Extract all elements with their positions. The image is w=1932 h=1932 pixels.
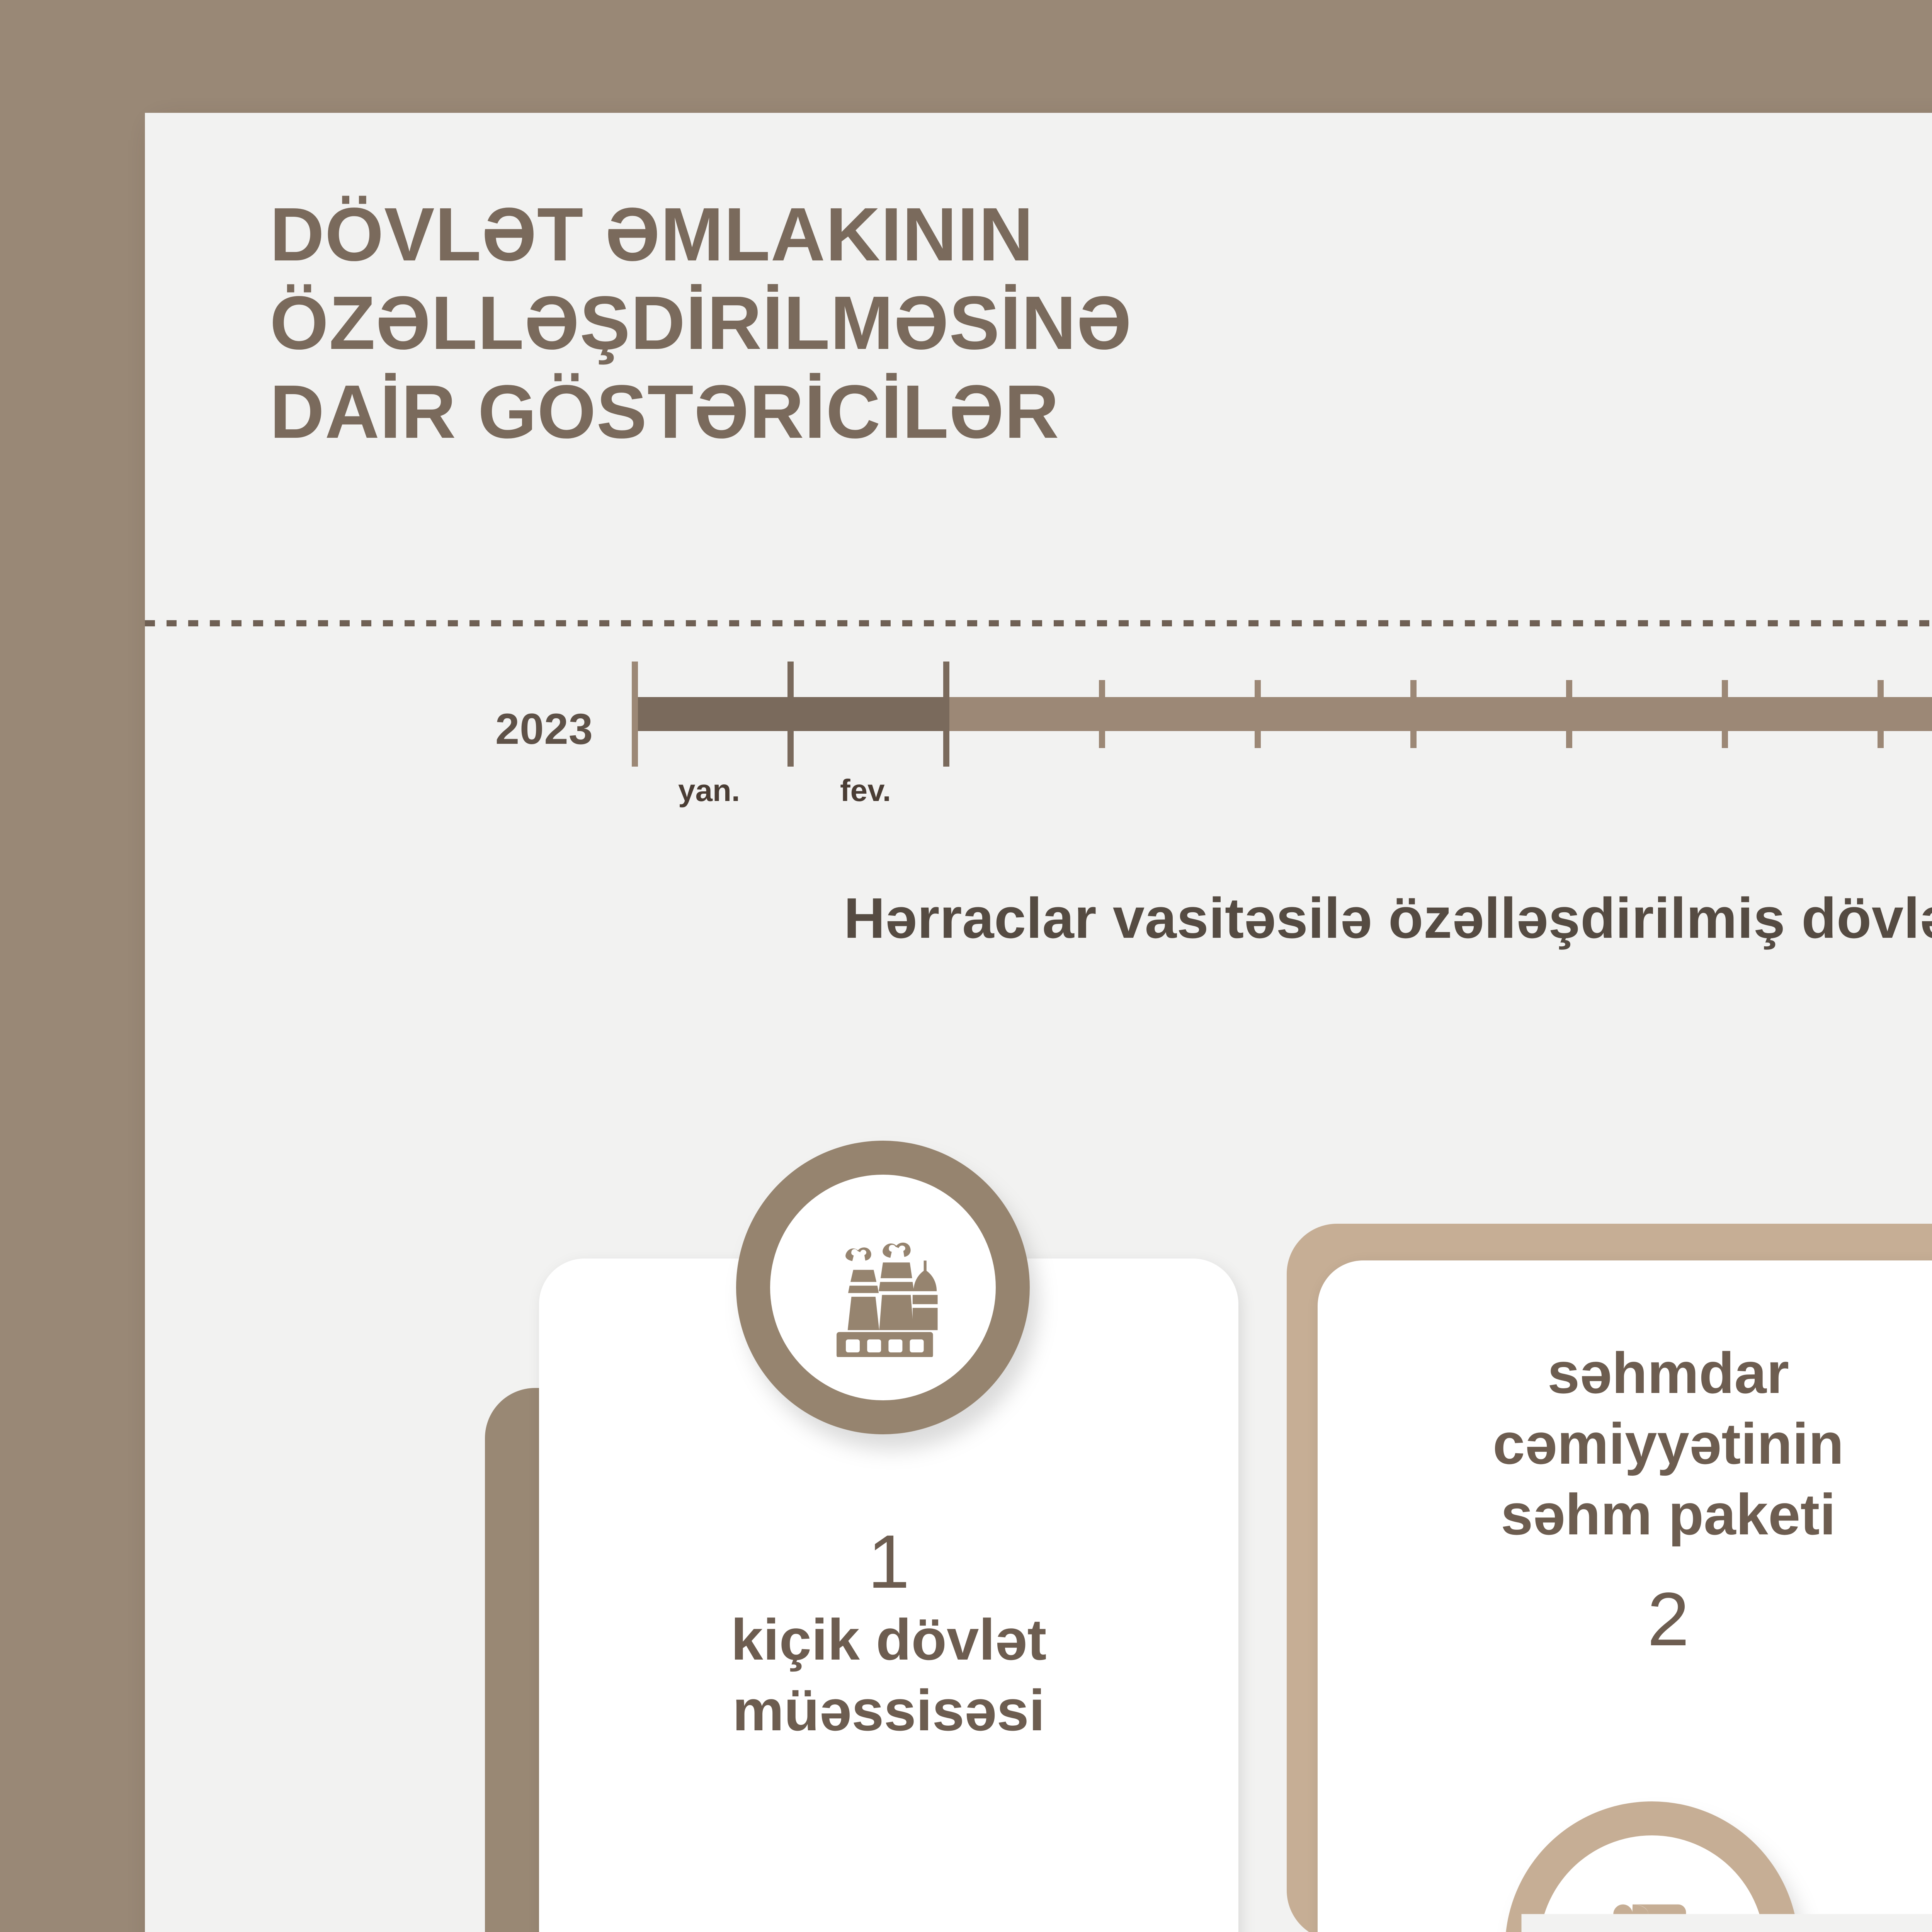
page-title: DÖVLƏT ƏMLAKININ ÖZƏLLƏŞDİRİLMƏSİNƏ DAİR…: [270, 190, 1622, 456]
header: DÖVLƏT ƏMLAKININ ÖZƏLLƏŞDİRİLMƏSİNƏ DAİR…: [145, 113, 1932, 627]
stat-card-2-label-line-3: səhm paketi: [1318, 1479, 1932, 1550]
timeline-tick-6: [1566, 680, 1572, 748]
stat-card-1-icon-badge: [736, 1141, 1030, 1434]
timeline-month-label-yan: yan.: [678, 773, 740, 808]
page-title-line-1: DÖVLƏT ƏMLAKININ: [270, 190, 1622, 279]
stat-card-2-body: səhmdar cəmiyyətinin səhm paketi 2: [1318, 1338, 1932, 1662]
timeline-tick-start: [632, 662, 638, 767]
year-progress-timeline: 2023 yan. fev.: [431, 654, 1932, 816]
timeline-year-label: 2023: [431, 704, 593, 754]
stat-cards-group: 1 kiçik dövlət müəssisəsi: [145, 1032, 1932, 1932]
stat-card-1-label-line-1: kiçik dövlət: [539, 1604, 1238, 1675]
stat-card-2-label: səhmdar cəmiyyətinin səhm paketi: [1318, 1338, 1932, 1550]
page-title-line-3: DAİR GÖSTƏRİCİLƏR: [270, 367, 1622, 456]
stat-card-1-body: 1 kiçik dövlət müəssisəsi: [539, 1519, 1238, 1746]
header-divider: [145, 620, 1932, 626]
infographic-canvas: DÖVLƏT ƏMLAKININ ÖZƏLLƏŞDİRİLMƏSİNƏ DAİR…: [0, 0, 1932, 1932]
timeline-tick-1: [787, 662, 794, 767]
timeline-tick-7: [1722, 680, 1728, 748]
timeline-tick-8: [1878, 680, 1884, 748]
stat-card-1-label-line-2: müəssisəsi: [539, 1675, 1238, 1746]
timeline-track: yan. fev.: [632, 654, 1932, 770]
timeline-tick-4: [1255, 680, 1261, 748]
timeline-tick-3: [1099, 680, 1105, 748]
stat-card-1-value: 1: [539, 1519, 1238, 1604]
timeline-month-label-fev: fev.: [840, 773, 891, 808]
page-title-line-2: ÖZƏLLƏŞDİRİLMƏSİNƏ: [270, 279, 1622, 367]
timeline-tick-5: [1410, 680, 1417, 748]
stat-card-2-label-line-2: cəmiyyətinin: [1318, 1408, 1932, 1479]
section-subtitle: Hərraclar vasitəsilə özəlləşdirilmiş döv…: [145, 886, 1932, 951]
stat-card-2-label-line-1: səhmdar: [1318, 1338, 1932, 1408]
stat-card-1-label: kiçik dövlət müəssisəsi: [539, 1604, 1238, 1746]
factory-icon: [770, 1175, 996, 1400]
timeline-tick-2: [943, 662, 949, 767]
stat-card-2-value: 2: [1318, 1577, 1932, 1662]
content-panel: DÖVLƏT ƏMLAKININ ÖZƏLLƏŞDİRİLMƏSİNƏ DAİR…: [145, 113, 1932, 1932]
